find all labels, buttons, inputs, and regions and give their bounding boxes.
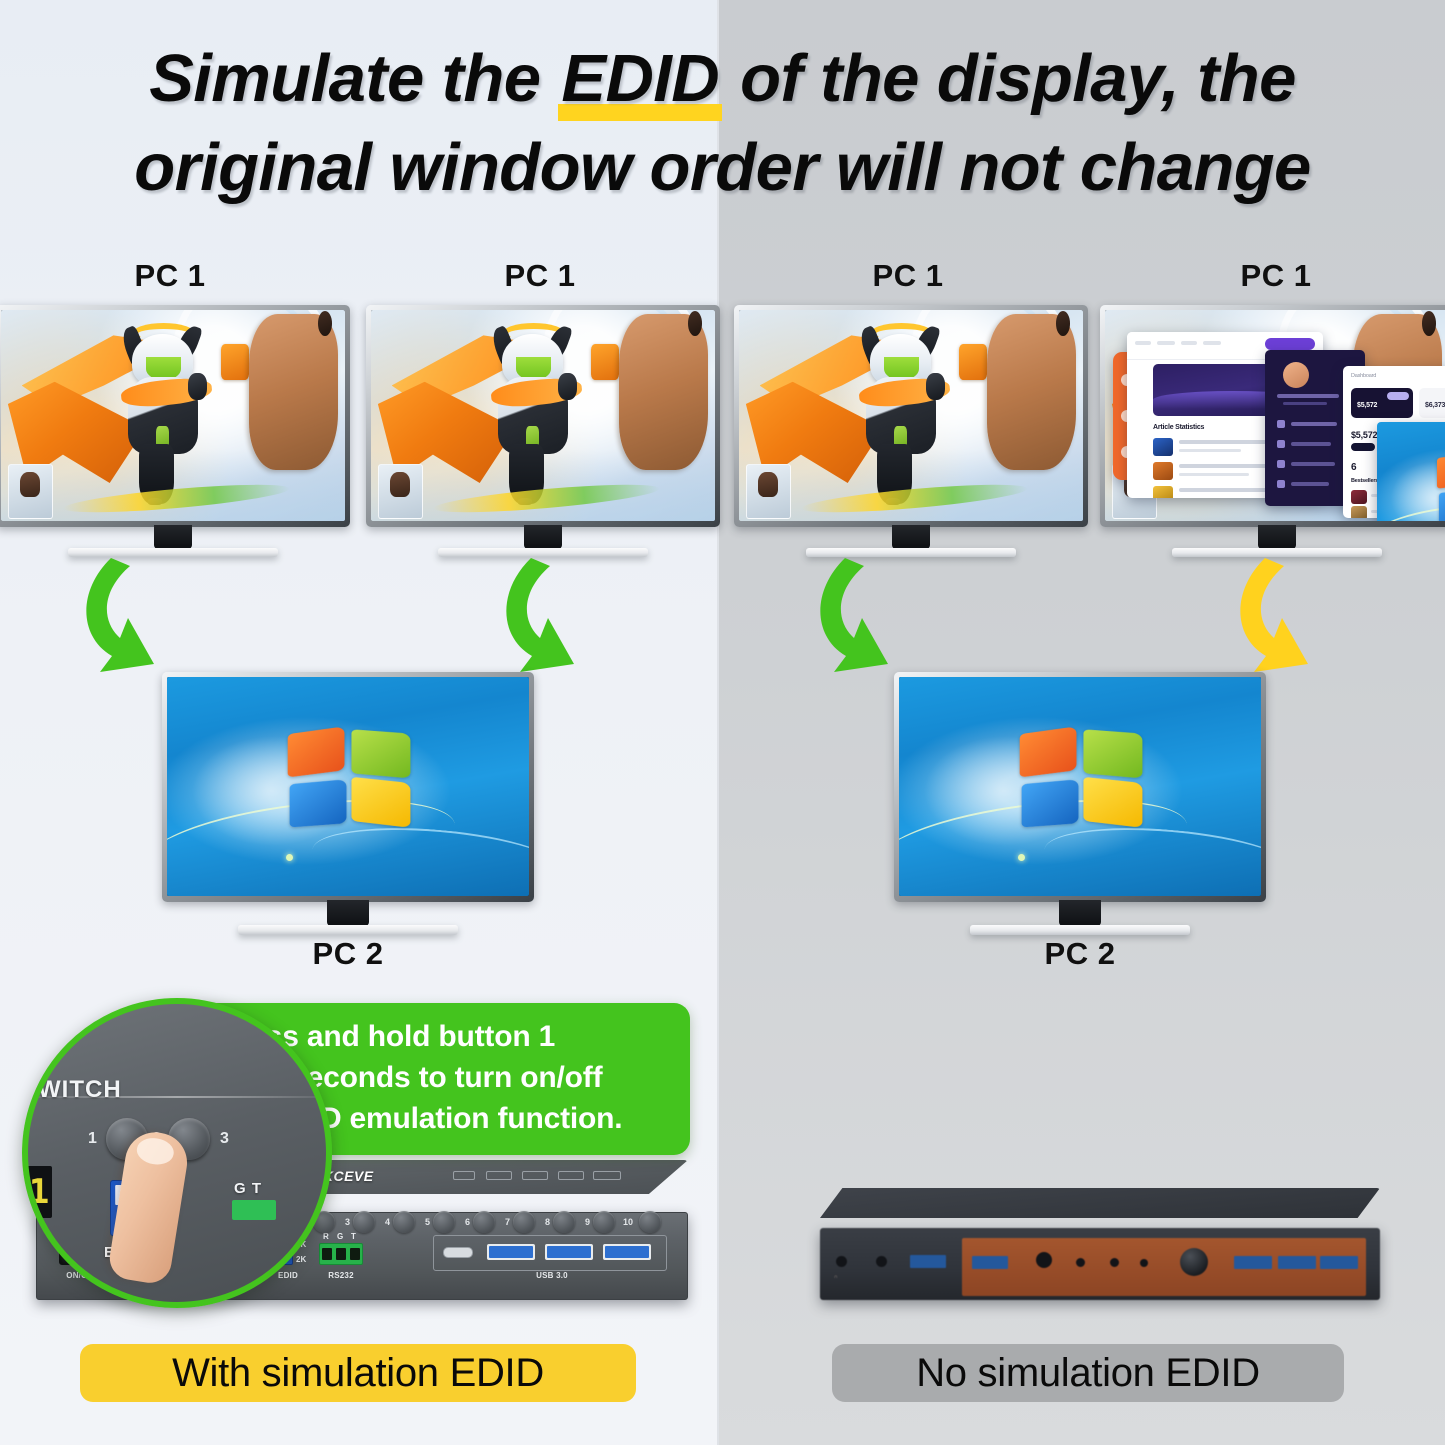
monitor-left-top-1 (0, 305, 350, 527)
pc-label-right-bottom: PC 2 (970, 936, 1190, 972)
device2-orange-panel (962, 1238, 1366, 1296)
feature-badge-4k (453, 1171, 475, 1180)
usb-caption: USB 3.0 (507, 1271, 597, 1280)
feature-badge-hdcp (558, 1171, 584, 1180)
device2-top-surface (820, 1188, 1380, 1218)
rs232-terminal-block[interactable] (319, 1243, 363, 1265)
screen-left-2 (371, 310, 715, 521)
badge-with-simulation: With simulation EDID (80, 1344, 636, 1402)
arrow-right-down-green (812, 552, 952, 677)
monitor-right-top-2: Article Statistics (1100, 305, 1445, 527)
pc-label-left-bottom: PC 2 (238, 936, 458, 972)
magnifier-rs232-block (232, 1200, 276, 1220)
port-button-3[interactable] (353, 1211, 375, 1233)
headline-edid-highlight: EDID (558, 34, 722, 123)
pc-label-left-2: PC 1 (430, 258, 650, 294)
infographic-page: Simulate the EDID of the display, the or… (0, 0, 1445, 1445)
feature-badge-audio (593, 1171, 621, 1180)
port-button-7[interactable] (513, 1211, 535, 1233)
badge-no-simulation: No simulation EDID (832, 1344, 1344, 1402)
device2-round-port-1[interactable] (1036, 1252, 1052, 1268)
game-artwork-3 (739, 310, 1083, 521)
headline-line1-after: of the display, the (722, 41, 1296, 116)
usb-a-port-1[interactable] (487, 1244, 535, 1260)
port-number-9: 9 (585, 1217, 590, 1227)
magnifier-button-number-1: 1 (88, 1130, 97, 1148)
port-button-8[interactable] (553, 1211, 575, 1233)
page-headline: Simulate the EDID of the display, the or… (0, 34, 1445, 212)
screen-right-2: Article Statistics (1105, 310, 1445, 521)
app-window-windows7[interactable] (1377, 422, 1445, 521)
monitor-right-top-1 (734, 305, 1088, 527)
kvm-switch-rear-panel: ∩ (820, 1188, 1380, 1300)
device2-usb-4[interactable] (1320, 1256, 1358, 1269)
usb-a-port-2[interactable] (545, 1244, 593, 1260)
device2-round-port-4[interactable] (1140, 1259, 1148, 1267)
port-number-7: 7 (505, 1217, 510, 1227)
rs232-caption: RS232 (313, 1271, 369, 1280)
device2-jack-2[interactable] (876, 1256, 887, 1267)
screen-right-1 (739, 310, 1083, 521)
monitor-left-bottom-pc2 (162, 672, 534, 902)
device2-knob[interactable] (1180, 1248, 1208, 1276)
device2-round-port-2[interactable] (1076, 1258, 1085, 1267)
rs232-letter-g: G (337, 1232, 343, 1241)
feature-badge-edid (522, 1171, 548, 1180)
device2-rear-face: ∩ (820, 1228, 1380, 1300)
monitor-right-bottom-pc2 (894, 672, 1266, 902)
dip-label-2k: 2K (296, 1255, 306, 1264)
rs232-letter-t: T (351, 1232, 356, 1241)
port-button-4[interactable] (393, 1211, 415, 1233)
scrambled-windows: Article Statistics (1105, 310, 1445, 521)
port-button-9[interactable] (593, 1211, 615, 1233)
arrow-left-down-green (78, 552, 218, 677)
magnifier-seven-segment: 1 (26, 1166, 52, 1218)
screen-left-pc2 (167, 677, 529, 896)
port-number-10: 10 (623, 1217, 633, 1227)
usb-a-port-3[interactable] (603, 1244, 651, 1260)
game-artwork-1 (1, 310, 345, 521)
device2-usb-3[interactable] (1278, 1256, 1316, 1269)
usb-c-port[interactable] (443, 1247, 473, 1258)
port-button-5[interactable] (433, 1211, 455, 1233)
feature-badge-uhd (486, 1171, 512, 1180)
windows-logo-icon (288, 729, 411, 827)
arrow-right-up-yellow (1232, 552, 1372, 677)
windows7-desktop-2 (899, 677, 1261, 896)
screen-right-pc2 (899, 677, 1261, 896)
device2-jack-1[interactable] (836, 1256, 847, 1267)
port-number-4: 4 (385, 1217, 390, 1227)
port-button-10[interactable] (639, 1211, 661, 1233)
pc-label-left-1: PC 1 (60, 258, 280, 294)
magnifier-switch-text: WITCH (38, 1076, 122, 1104)
port-number-8: 8 (545, 1217, 550, 1227)
arrow-left-up-green (498, 552, 638, 677)
screen-left-1 (1, 310, 345, 521)
magnifier-closeup: WITCH 1 2 3 1 ON 4K 2K EDI G T (22, 998, 332, 1308)
rs232-letter-r: R (323, 1232, 329, 1241)
device2-usb-1[interactable] (972, 1256, 1008, 1269)
windows7-desktop-1 (167, 677, 529, 896)
pc-label-right-1: PC 1 (798, 258, 1018, 294)
magnifier-rs232-letters: G T (234, 1180, 262, 1197)
port-number-6: 6 (465, 1217, 470, 1227)
headline-line1-before: Simulate the (149, 41, 558, 116)
device2-usb-2[interactable] (1234, 1256, 1272, 1269)
magnifier-button-number-3: 3 (220, 1130, 229, 1148)
device2-round-port-3[interactable] (1110, 1258, 1119, 1267)
port-number-5: 5 (425, 1217, 430, 1227)
device2-usb-left[interactable] (910, 1255, 946, 1268)
game-artwork-2 (371, 310, 715, 521)
headline-line2: original window order will not change (0, 123, 1445, 212)
pc-label-right-2: PC 1 (1166, 258, 1386, 294)
port-number-3: 3 (345, 1217, 350, 1227)
panel-divider (717, 0, 719, 1445)
port-button-6[interactable] (473, 1211, 495, 1233)
monitor-left-top-2 (366, 305, 720, 527)
